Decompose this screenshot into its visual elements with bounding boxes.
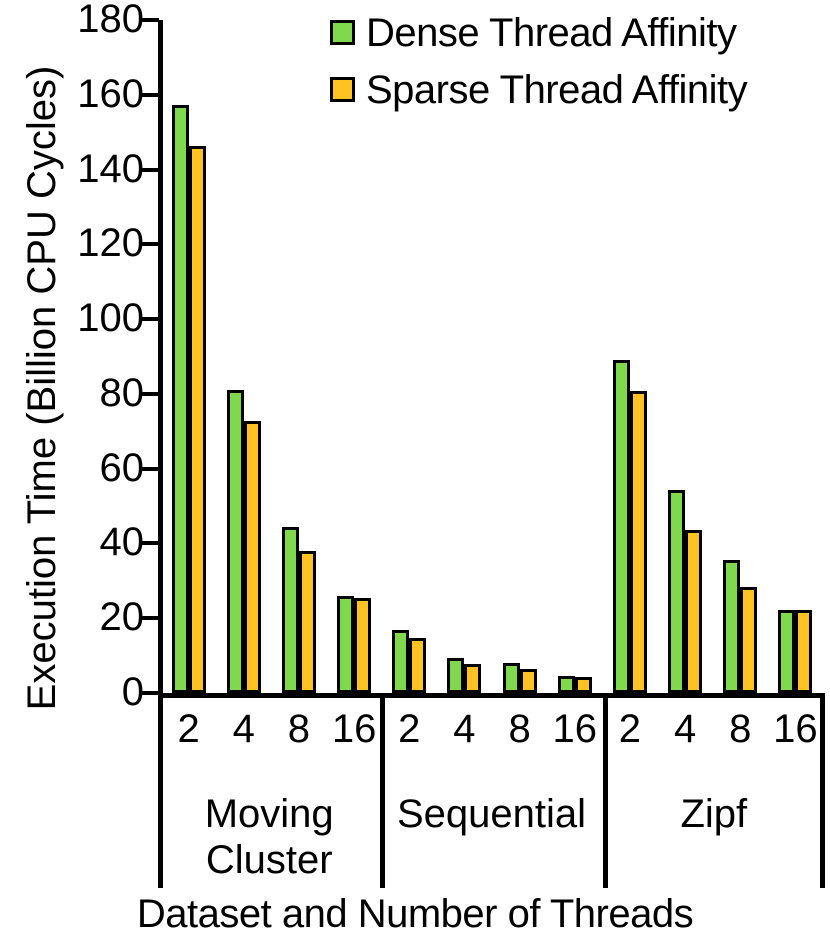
y-tick-mark-180 — [139, 18, 159, 22]
plot-area — [163, 20, 825, 693]
bar-chart: Dense Thread Affinity Sparse Thread Affi… — [0, 0, 830, 947]
y-tick-mark-80 — [139, 392, 159, 396]
x-group-label-zipf: Zipf — [603, 791, 825, 837]
y-tick-label-0: 0 — [14, 672, 144, 712]
bar-dense-sequential-16 — [558, 676, 575, 693]
bar-sparse-moving-cluster-16 — [354, 598, 371, 693]
x-tick-label-moving-cluster-8: 8 — [273, 709, 325, 749]
bar-dense-sequential-2 — [392, 630, 409, 693]
x-tick-label-moving-cluster-16: 16 — [328, 709, 380, 749]
x-tick-label-zipf-16: 16 — [769, 709, 821, 749]
y-tick-label-20: 20 — [14, 597, 144, 637]
bar-sparse-sequential-8 — [520, 669, 537, 693]
x-tick-label-sequential-4: 4 — [438, 709, 490, 749]
y-tick-mark-100 — [139, 317, 159, 321]
x-group-label-sequential: Sequential — [380, 791, 602, 837]
y-tick-label-80: 80 — [14, 373, 144, 413]
y-tick-mark-160 — [139, 93, 159, 97]
y-tick-mark-120 — [139, 242, 159, 246]
bar-sparse-zipf-8 — [740, 587, 757, 693]
bar-sparse-moving-cluster-2 — [189, 146, 206, 693]
x-tick-label-zipf-2: 2 — [604, 709, 656, 749]
x-tick-label-sequential-16: 16 — [549, 709, 601, 749]
y-tick-mark-40 — [139, 541, 159, 545]
bar-sparse-sequential-16 — [575, 677, 592, 693]
bar-dense-zipf-4 — [668, 490, 685, 693]
bar-sparse-zipf-4 — [685, 530, 702, 693]
x-tick-label-zipf-8: 8 — [714, 709, 766, 749]
bar-dense-zipf-16 — [778, 610, 795, 693]
x-group-label-moving-cluster: Moving Cluster — [158, 791, 380, 883]
x-axis-group-band: 24816Moving Cluster24816Sequential24816Z… — [158, 695, 825, 888]
y-axis-tick-labels: 180160140120100806040200 — [8, 0, 144, 947]
bar-dense-zipf-2 — [613, 360, 630, 693]
x-tick-label-sequential-2: 2 — [383, 709, 435, 749]
y-tick-label-140: 140 — [14, 149, 144, 189]
x-tick-label-moving-cluster-4: 4 — [218, 709, 270, 749]
bar-dense-moving-cluster-2 — [172, 105, 189, 693]
bar-sparse-zipf-2 — [630, 391, 647, 693]
x-tick-label-moving-cluster-2: 2 — [163, 709, 215, 749]
bar-dense-zipf-8 — [723, 560, 740, 693]
y-tick-label-160: 160 — [14, 74, 144, 114]
bar-sparse-sequential-4 — [464, 664, 481, 693]
bar-dense-moving-cluster-8 — [282, 527, 299, 693]
x-tick-label-sequential-8: 8 — [494, 709, 546, 749]
y-tick-mark-60 — [139, 467, 159, 471]
bar-sparse-moving-cluster-4 — [244, 421, 261, 693]
bar-sparse-zipf-16 — [795, 610, 812, 693]
y-tick-label-120: 120 — [14, 223, 144, 263]
x-axis-title: Dataset and Number of Threads — [0, 892, 830, 936]
bar-dense-moving-cluster-4 — [227, 390, 244, 693]
bar-dense-moving-cluster-16 — [337, 596, 354, 693]
bar-dense-sequential-4 — [447, 658, 464, 693]
y-tick-label-40: 40 — [14, 522, 144, 562]
x-tick-label-zipf-4: 4 — [659, 709, 711, 749]
bar-dense-sequential-8 — [503, 663, 520, 693]
y-tick-label-100: 100 — [14, 298, 144, 338]
bar-sparse-sequential-2 — [409, 638, 426, 693]
y-tick-mark-20 — [139, 616, 159, 620]
bar-sparse-moving-cluster-8 — [299, 551, 316, 693]
y-tick-mark-0 — [139, 691, 159, 695]
y-tick-mark-140 — [139, 168, 159, 172]
y-tick-label-180: 180 — [14, 0, 144, 39]
y-tick-label-60: 60 — [14, 448, 144, 488]
